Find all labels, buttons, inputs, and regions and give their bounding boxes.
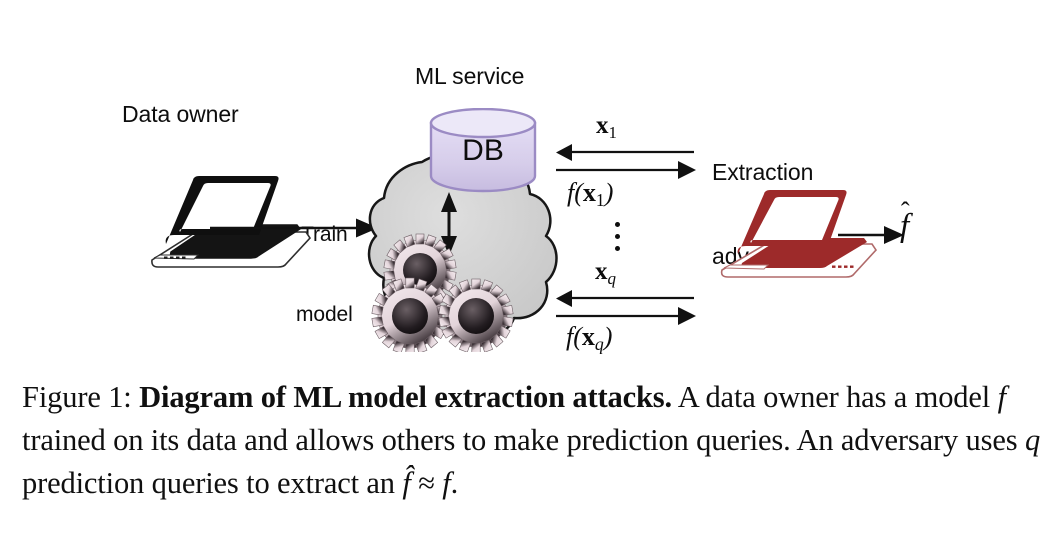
ellipsis-dot — [615, 246, 620, 251]
math-fhat-hat: ˆ — [901, 196, 910, 227]
caption-body-1: A data owner has a model — [672, 380, 998, 414]
math-fx1-arg: x — [583, 178, 596, 207]
caption-title: Diagram of ML model extraction attacks. — [139, 380, 672, 414]
math-fxq-arg: x — [582, 322, 595, 351]
math-x1-sub: 1 — [609, 123, 618, 142]
ellipsis-dot — [615, 234, 620, 239]
arrow-train-model — [208, 214, 380, 242]
label-ml-service: ML service — [415, 62, 524, 90]
math-extracted-model-fhat: fˆ — [900, 208, 909, 245]
caption-math-f-1: f — [998, 380, 1006, 414]
math-fx1-sub: 1 — [596, 190, 605, 210]
caption-body-2: trained on its data and allows others to… — [22, 423, 1025, 457]
caption-body-4: ≈ — [411, 466, 443, 500]
caption-math-fhat: f̂ — [402, 466, 410, 500]
math-xq-sub: q — [608, 269, 617, 288]
caption-figure-number: Figure 1: — [22, 380, 132, 414]
math-fx1-close: ) — [605, 178, 614, 207]
label-train-line2: model — [296, 302, 353, 329]
math-response-fx1: f(x1) — [567, 178, 613, 211]
math-fxq-open: ( — [573, 322, 582, 351]
label-data-owner: Data owner — [122, 100, 239, 128]
arrow-extracted-model — [838, 222, 906, 248]
caption-body-3: prediction queries to extract an — [22, 466, 402, 500]
math-fxq-close: ) — [604, 322, 613, 351]
math-fxq-sub: q — [595, 334, 604, 354]
caption-math-f-2: f — [442, 466, 450, 500]
math-query-xq: xq — [595, 258, 616, 289]
db-label: DB — [462, 134, 504, 167]
ellipsis-dot — [615, 222, 620, 227]
figure-caption: Figure 1: Diagram of ML model extraction… — [22, 376, 1042, 505]
caption-math-q: q — [1025, 423, 1040, 457]
label-extraction-adversary-line1: Extraction — [712, 158, 813, 186]
vertical-ellipsis — [615, 222, 621, 258]
database-cylinder-icon: DB — [427, 108, 539, 194]
figure-1-root: Data owner ML service Extraction adversa… — [0, 0, 1062, 542]
diagram-canvas: Data owner ML service Extraction adversa… — [0, 0, 1062, 370]
math-xq-vec: x — [595, 258, 608, 285]
math-fx1-open: ( — [574, 178, 583, 207]
math-response-fxq: f(xq) — [566, 322, 612, 355]
gear-bottom-right — [439, 279, 513, 352]
caption-body-5: . — [451, 466, 458, 500]
gear-bottom-left — [372, 278, 448, 352]
math-query-x1: x1 — [596, 112, 617, 143]
math-x1-vec: x — [596, 112, 609, 139]
